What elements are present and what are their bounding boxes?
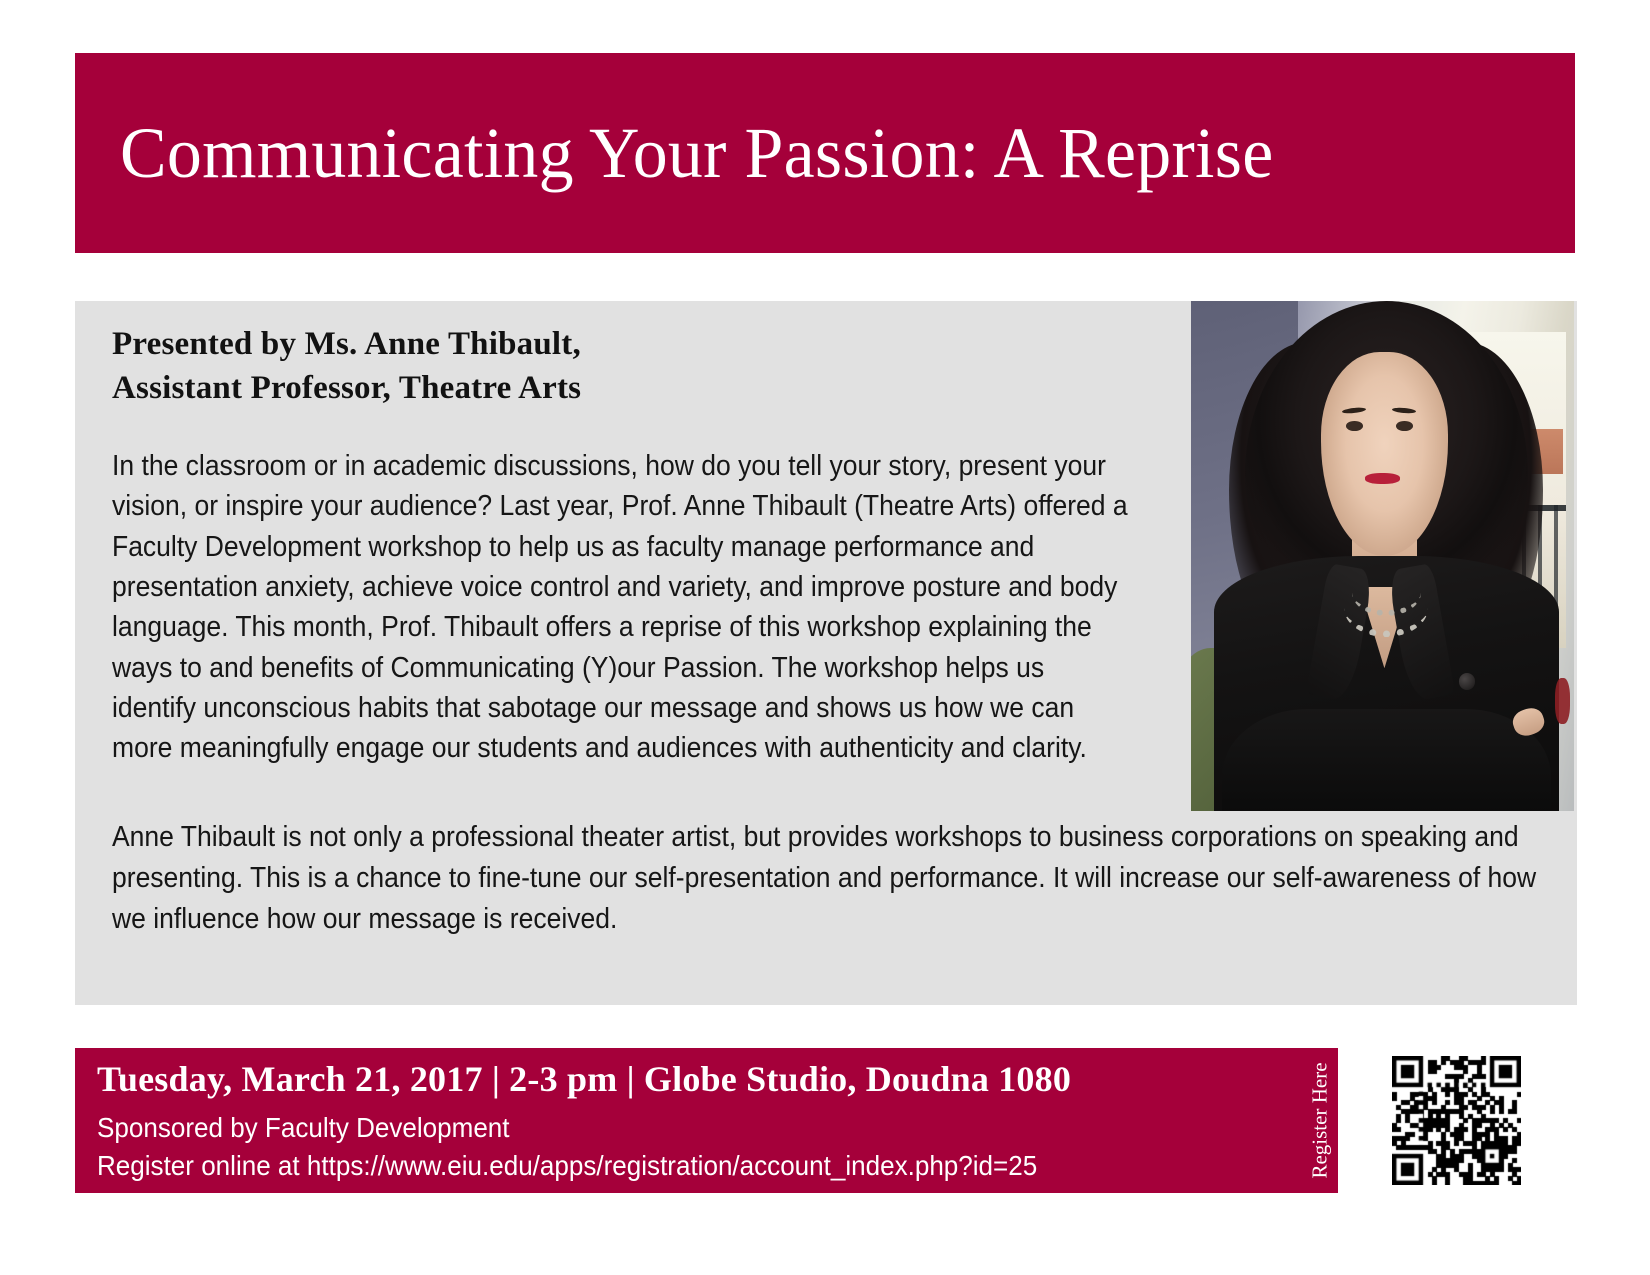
qr-panel (1338, 1048, 1575, 1193)
photo-red-accent (1555, 678, 1570, 724)
description-paragraph-2: Anne Thibault is not only a professional… (112, 817, 1563, 939)
page-title: Communicating Your Passion: A Reprise (120, 117, 1274, 189)
photo-eye-left (1346, 421, 1363, 431)
description-paragraph-1: In the classroom or in academic discussi… (112, 446, 1135, 769)
text-column: Presented by Ms. Anne Thibault, Assistan… (112, 323, 1132, 769)
footer-banner: Tuesday, March 21, 2017 | 2-3 pm | Globe… (75, 1048, 1575, 1193)
photo-lips (1365, 473, 1399, 483)
photo-folded-arms (1222, 709, 1551, 811)
photo-necklace (1344, 579, 1428, 637)
event-date-time-location: Tuesday, March 21, 2017 | 2-3 pm | Globe… (97, 1058, 1071, 1100)
photo-blazer-button (1459, 673, 1475, 689)
presenter-photo (1191, 301, 1574, 811)
presenter-heading: Presented by Ms. Anne Thibault, Assistan… (112, 323, 1132, 410)
register-here-label: Register Here (1303, 1048, 1337, 1193)
presenter-name-line: Presented by Ms. Anne Thibault, (112, 323, 1132, 367)
qr-code-icon[interactable] (1392, 1056, 1521, 1185)
header-banner: Communicating Your Passion: A Reprise (75, 53, 1575, 253)
registration-link[interactable]: Register online at https://www.eiu.edu/a… (97, 1150, 1037, 1182)
content-panel: Presented by Ms. Anne Thibault, Assistan… (75, 301, 1577, 1005)
event-flyer: Communicating Your Passion: A Reprise Pr… (0, 0, 1650, 1275)
sponsor-line: Sponsored by Faculty Development (97, 1112, 510, 1144)
presenter-title-line: Assistant Professor, Theatre Arts (112, 367, 1132, 411)
photo-eye-right (1396, 421, 1413, 431)
register-here-text: Register Here (1308, 1062, 1333, 1178)
